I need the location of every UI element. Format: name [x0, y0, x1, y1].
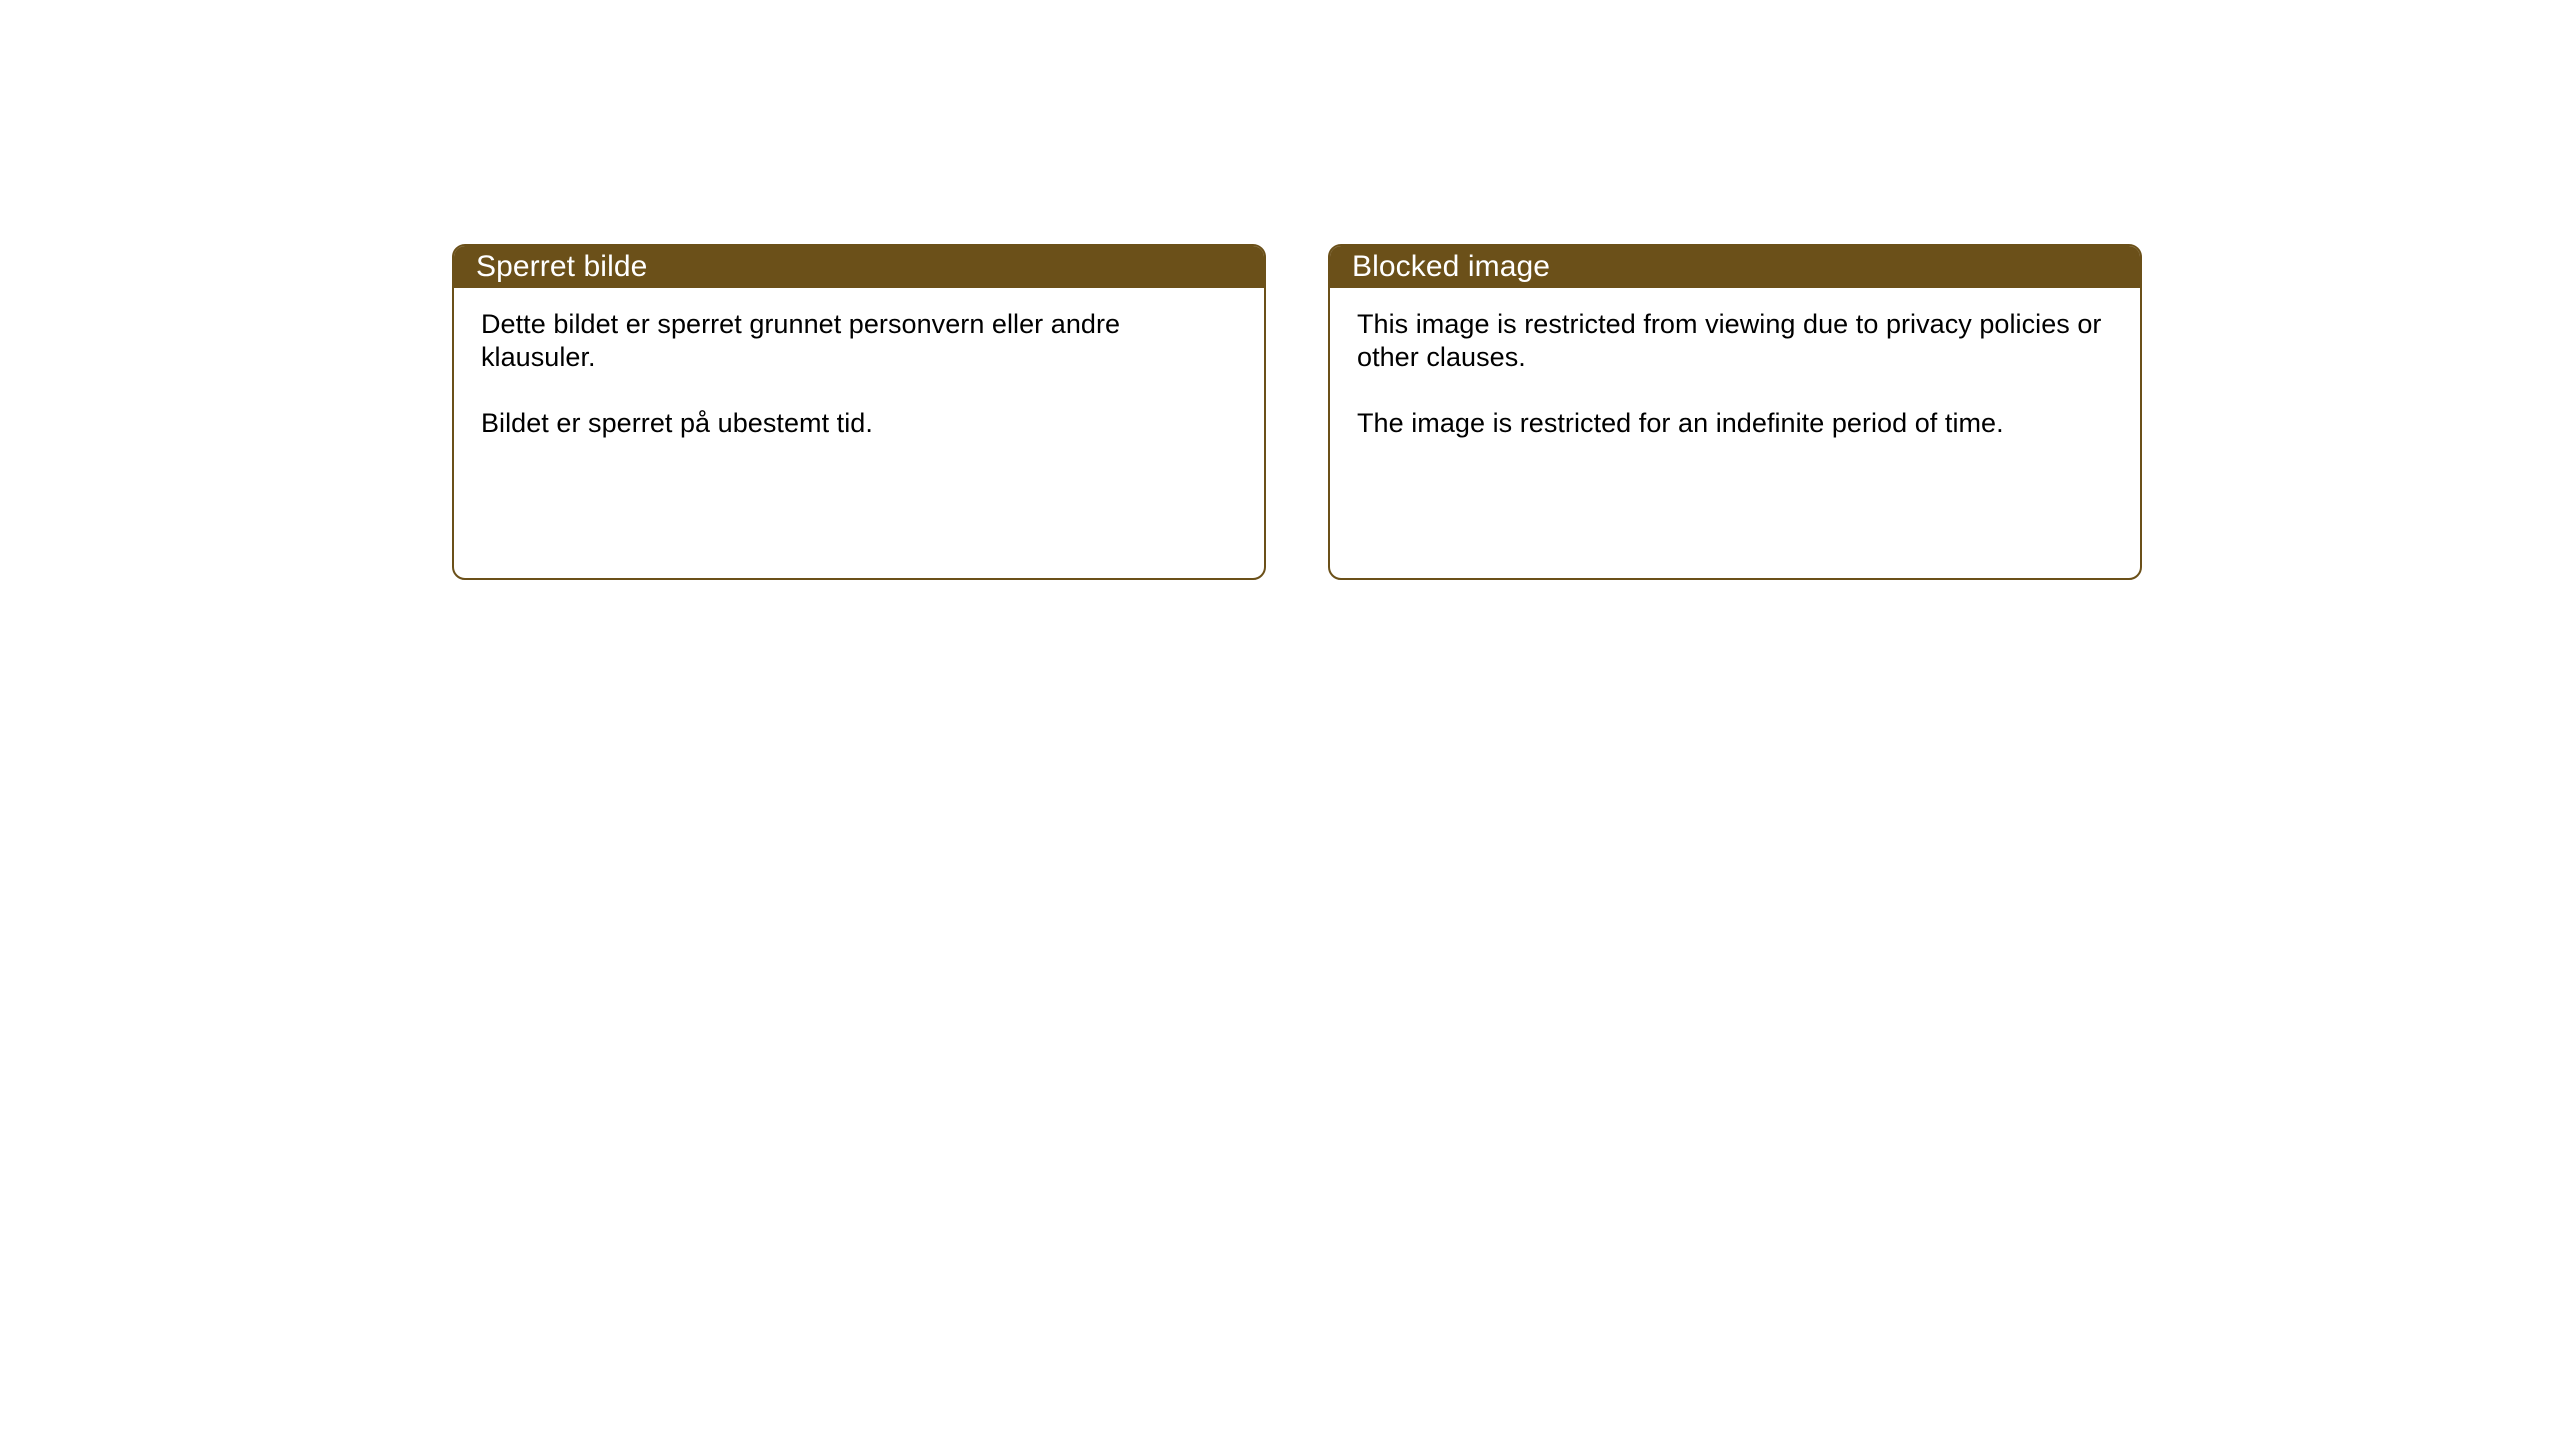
card-header-norwegian: Sperret bilde [454, 246, 1264, 288]
card-header-english: Blocked image [1330, 246, 2140, 288]
card-paragraph-reason-english: This image is restricted from viewing du… [1357, 308, 2114, 374]
card-paragraph-duration-english: The image is restricted for an indefinit… [1357, 407, 2114, 440]
card-paragraph-duration-norwegian: Bildet er sperret på ubestemt tid. [481, 407, 1238, 440]
blocked-image-notice-card-norwegian: Sperret bilde Dette bildet er sperret gr… [452, 244, 1266, 580]
card-body-english: This image is restricted from viewing du… [1330, 288, 2140, 440]
card-title-norwegian: Sperret bilde [476, 252, 647, 282]
card-body-norwegian: Dette bildet er sperret grunnet personve… [454, 288, 1264, 440]
card-title-english: Blocked image [1352, 252, 1550, 282]
blocked-image-notice-card-english: Blocked image This image is restricted f… [1328, 244, 2142, 580]
page-canvas: Sperret bilde Dette bildet er sperret gr… [0, 0, 2560, 1440]
card-paragraph-reason-norwegian: Dette bildet er sperret grunnet personve… [481, 308, 1238, 374]
